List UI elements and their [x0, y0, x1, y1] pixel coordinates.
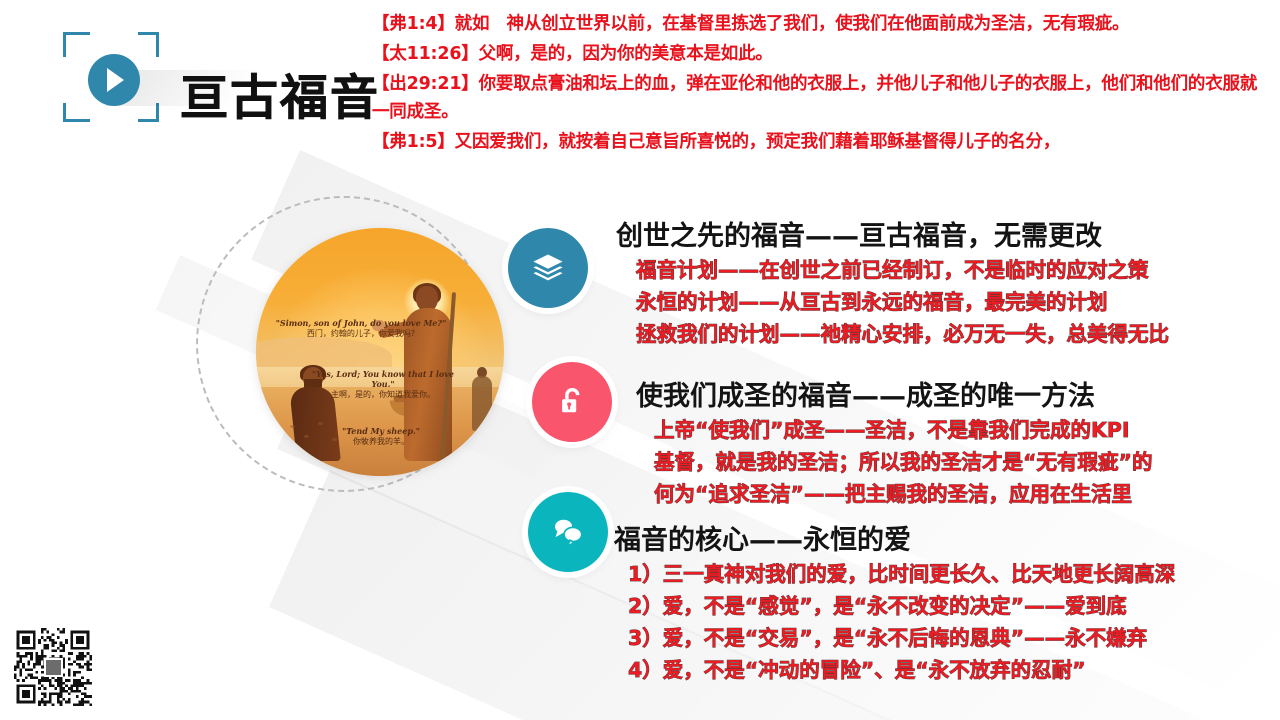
qr-code[interactable] [14, 628, 92, 706]
section-lines: 1）三一真神对我们的爱，比时间更长久、比天地更长阔高深 2）爱，不是“感觉”，是… [614, 559, 1175, 686]
section-core-of-gospel: 福音的核心——永恒的爱 1）三一真神对我们的爱，比时间更长久、比天地更长阔高深 … [614, 518, 1175, 687]
verse-line: 【太11:26】父啊，是的，因为你的美意本是如此。 [372, 40, 1268, 68]
dialogue-line-3: "Tend My sheep." 你牧养我的羊。 [306, 426, 456, 447]
chat-bubbles-icon[interactable] [528, 492, 608, 572]
section-line: 4）爱，不是“冲动的冒险”、是“永不放弃的忍耐” [628, 655, 1175, 686]
section-line: 何为“追求圣洁”——把主赐我的圣洁，应用在生活里 [654, 479, 1152, 510]
dialogue-line-2: "Yes, Lord; You know that I love You." 主… [304, 369, 462, 400]
slide-header: 亘古福音 【弗1:4】就如 神从创立世界以前，在基督里拣选了我们，使我们在他面前… [0, 0, 1280, 170]
verse-line: 【出29:21】你要取点膏油和坛上的血，弹在亚伦和他的衣服上，并他儿子和他儿子的… [372, 70, 1268, 126]
brand-logo: 亘古福音 [55, 22, 365, 132]
section-line: 拯救我们的计划——祂精心安排，必万无一失，总美得无比 [636, 319, 1169, 350]
section-line: 福音计划——在创世之前已经制订，不是临时的应对之策 [636, 255, 1169, 286]
unlock-icon[interactable] [532, 362, 612, 442]
section-line: 基督，就是我的圣洁；所以我的圣洁才是“无有瑕疵”的 [654, 447, 1152, 478]
verse-line: 【弗1:4】就如 神从创立世界以前，在基督里拣选了我们，使我们在他面前成为圣洁，… [372, 10, 1268, 38]
section-line: 2）爱，不是“感觉”，是“永不改变的决定”——爱到底 [628, 591, 1175, 622]
verse-line: 【弗1:5】又因爱我们，就按着自己意旨所喜悦的，预定我们藉着耶稣基督得儿子的名分… [372, 128, 1268, 156]
section-heading: 使我们成圣的福音——成圣的唯一方法 [636, 374, 1152, 413]
section-line: 1）三一真神对我们的爱，比时间更长久、比天地更长阔高深 [628, 559, 1175, 590]
slide: 亘古福音 【弗1:4】就如 神从创立世界以前，在基督里拣选了我们，使我们在他面前… [0, 0, 1280, 720]
section-heading: 福音的核心——永恒的爱 [614, 518, 1175, 557]
section-gospel-before-creation: 创世之先的福音——亘古福音，无需更改 福音计划——在创世之前已经制订，不是临时的… [616, 214, 1169, 351]
brand-title: 亘古福音 [180, 58, 380, 128]
play-button-icon [88, 54, 140, 106]
layers-icon[interactable] [508, 228, 588, 308]
qr-center-logo [44, 658, 63, 677]
dialogue-line-1: "Simon, son of John, do you love Me?" 西门… [268, 318, 454, 339]
section-sanctification-gospel: 使我们成圣的福音——成圣的唯一方法 上帝“使我们”成圣——圣洁，不是靠我们完成的… [636, 374, 1152, 511]
section-lines: 上帝“使我们”成圣——圣洁，不是靠我们完成的KPI 基督，就是我的圣洁；所以我的… [636, 415, 1152, 510]
distant-figure [472, 367, 492, 431]
section-line: 永恒的计划——从亘古到永远的福音，最完美的计划 [636, 287, 1169, 318]
section-heading: 创世之先的福音——亘古福音，无需更改 [616, 214, 1169, 253]
section-line: 上帝“使我们”成圣——圣洁，不是靠我们完成的KPI [654, 415, 1152, 446]
section-lines: 福音计划——在创世之前已经制订，不是临时的应对之策 永恒的计划——从亘古到永远的… [616, 255, 1169, 350]
section-line: 3）爱，不是“交易”，是“永不后悔的恩典”——永不嫌弃 [628, 623, 1175, 654]
scripture-verse-list: 【弗1:4】就如 神从创立世界以前，在基督里拣选了我们，使我们在他面前成为圣洁，… [372, 10, 1268, 158]
